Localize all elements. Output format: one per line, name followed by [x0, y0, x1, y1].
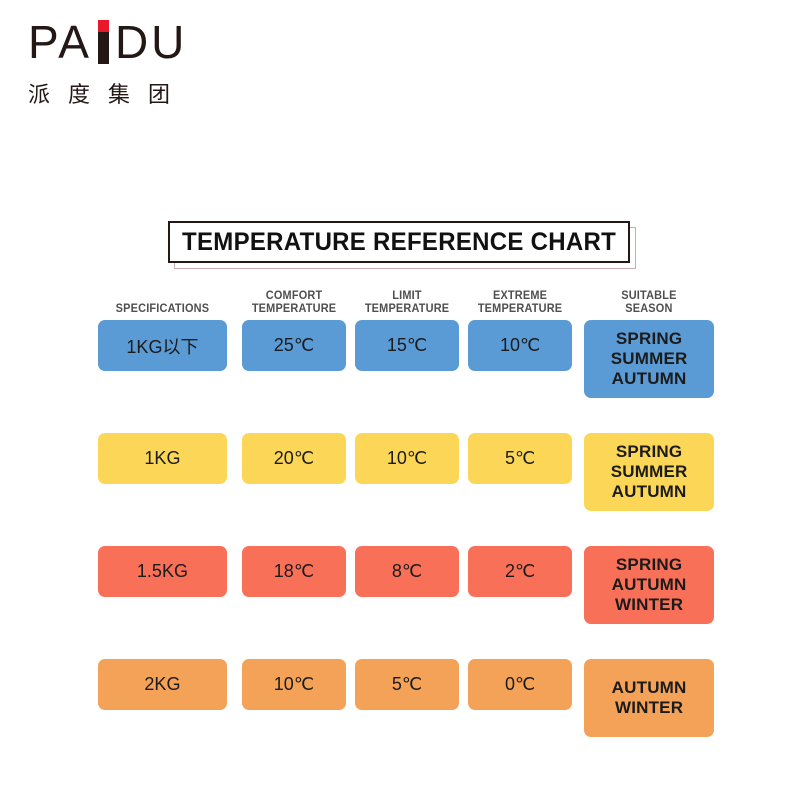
cell-extreme-temperature: 2℃	[468, 546, 572, 597]
cell-limit-temperature: 10℃	[355, 433, 459, 484]
cell-extreme-temperature: 5℃	[468, 433, 572, 484]
season-line: SUMMER	[611, 462, 688, 482]
page-title: TEMPERATURE REFERENCE CHART	[182, 228, 616, 257]
cell-suitable-season: SPRINGSUMMERAUTUMN	[584, 320, 714, 398]
wordmark-suffix: DU	[115, 20, 187, 64]
cell-specification: 2KG	[98, 659, 227, 710]
season-line: SPRING	[616, 555, 682, 575]
cell-extreme-temperature: 0℃	[468, 659, 572, 710]
cell-comfort-temperature: 25℃	[242, 320, 346, 371]
column-header-extreme-temperature: EXTREME TEMPERATURE	[471, 290, 570, 320]
cell-specification: 1KG	[98, 433, 227, 484]
cell-suitable-season: SPRINGSUMMERAUTUMN	[584, 433, 714, 511]
column-header-specifications: SPECIFICATIONS	[101, 303, 223, 320]
season-line: WINTER	[615, 595, 683, 615]
season-line: AUTUMN	[612, 575, 687, 595]
season-line: SPRING	[616, 442, 682, 462]
season-line: SPRING	[616, 329, 682, 349]
cell-limit-temperature: 5℃	[355, 659, 459, 710]
wordmark-prefix: PA	[28, 20, 92, 64]
season-line: SUMMER	[611, 349, 688, 369]
brand-logo: PA DU 派度集团	[28, 20, 288, 110]
column-header-suitable-season: SUITABLE SEASON	[587, 290, 710, 320]
column-header-limit-temperature: LIMIT TEMPERATURE	[358, 290, 457, 320]
season-line: AUTUMN	[612, 369, 687, 389]
table-row: 2KG 10℃ 5℃ 0℃ AUTUMNWINTER	[98, 659, 714, 737]
cell-suitable-season: SPRINGAUTUMNWINTER	[584, 546, 714, 624]
table-row: 1KG 20℃ 10℃ 5℃ SPRINGSUMMERAUTUMN	[98, 433, 714, 511]
cell-specification: 1KG以下	[98, 320, 227, 371]
cell-comfort-temperature: 20℃	[242, 433, 346, 484]
table-header-row: SPECIFICATIONS COMFORT TEMPERATURE LIMIT…	[98, 282, 714, 320]
table-row: 1.5KG 18℃ 8℃ 2℃ SPRINGAUTUMNWINTER	[98, 546, 714, 624]
season-line: WINTER	[615, 698, 683, 718]
season-line: AUTUMN	[612, 482, 687, 502]
chart-title-box: TEMPERATURE REFERENCE CHART	[168, 221, 632, 265]
cell-limit-temperature: 8℃	[355, 546, 459, 597]
brand-chinese-name: 派度集团	[28, 77, 288, 109]
wordmark-i-accent-icon	[98, 20, 109, 64]
cell-limit-temperature: 15℃	[355, 320, 459, 371]
cell-comfort-temperature: 10℃	[242, 659, 346, 710]
cell-comfort-temperature: 18℃	[242, 546, 346, 597]
table-row: 1KG以下 25℃ 15℃ 10℃ SPRINGSUMMERAUTUMN	[98, 320, 714, 398]
cell-suitable-season: AUTUMNWINTER	[584, 659, 714, 737]
cell-extreme-temperature: 10℃	[468, 320, 572, 371]
brand-wordmark: PA DU	[28, 20, 288, 64]
title-main-frame: TEMPERATURE REFERENCE CHART	[168, 221, 630, 263]
cell-specification: 1.5KG	[98, 546, 227, 597]
temperature-reference-table: SPECIFICATIONS COMFORT TEMPERATURE LIMIT…	[98, 282, 714, 737]
season-line: AUTUMN	[612, 678, 687, 698]
column-header-comfort-temperature: COMFORT TEMPERATURE	[244, 290, 343, 320]
